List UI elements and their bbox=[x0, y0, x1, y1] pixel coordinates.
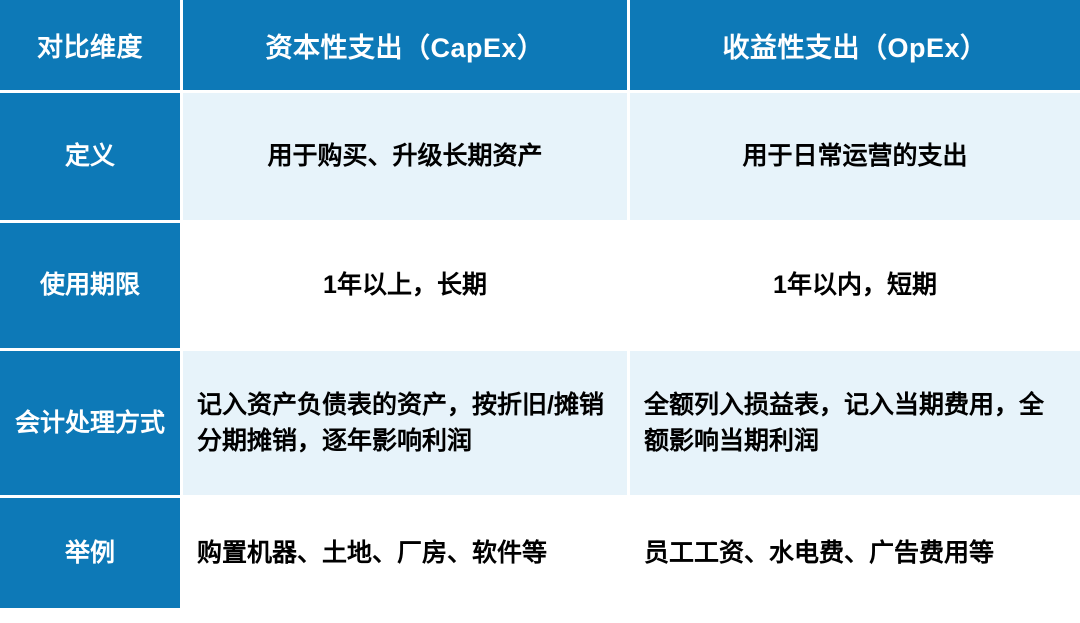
table-body: 定义 用于购买、升级长期资产 用于日常运营的支出 使用期限 1年以上，长期 1年… bbox=[0, 90, 1080, 608]
row-label-accounting-treatment: 会计处理方式 bbox=[0, 348, 183, 495]
cell-accounting-treatment-capex: 记入资产负债表的资产，按折旧/摊销分期摊销，逐年影响利润 bbox=[183, 348, 630, 495]
row-label-definition: 定义 bbox=[0, 90, 183, 220]
table-row: 定义 用于购买、升级长期资产 用于日常运营的支出 bbox=[0, 90, 1080, 220]
cell-definition-capex: 用于购买、升级长期资产 bbox=[183, 90, 630, 220]
cell-accounting-treatment-opex: 全额列入损益表，记入当期费用，全额影响当期利润 bbox=[630, 348, 1080, 495]
table-row: 使用期限 1年以上，长期 1年以内，短期 bbox=[0, 220, 1080, 348]
comparison-table-container: 对比维度 资本性支出（CapEx） 收益性支出（OpEx） 定义 用于购买、升级… bbox=[0, 0, 1080, 623]
cell-examples-opex: 员工工资、水电费、广告费用等 bbox=[630, 495, 1080, 608]
capex-opex-comparison-table: 对比维度 资本性支出（CapEx） 收益性支出（OpEx） 定义 用于购买、升级… bbox=[0, 0, 1080, 608]
table-header-row: 对比维度 资本性支出（CapEx） 收益性支出（OpEx） bbox=[0, 0, 1080, 90]
table-row: 会计处理方式 记入资产负债表的资产，按折旧/摊销分期摊销，逐年影响利润 全额列入… bbox=[0, 348, 1080, 495]
cell-useful-life-opex: 1年以内，短期 bbox=[630, 220, 1080, 348]
column-header-dimension: 对比维度 bbox=[0, 0, 183, 90]
table-row: 举例 购置机器、土地、厂房、软件等 员工工资、水电费、广告费用等 bbox=[0, 495, 1080, 608]
column-header-capex: 资本性支出（CapEx） bbox=[183, 0, 630, 90]
row-label-useful-life: 使用期限 bbox=[0, 220, 183, 348]
column-header-opex: 收益性支出（OpEx） bbox=[630, 0, 1080, 90]
row-label-examples: 举例 bbox=[0, 495, 183, 608]
cell-useful-life-capex: 1年以上，长期 bbox=[183, 220, 630, 348]
cell-examples-capex: 购置机器、土地、厂房、软件等 bbox=[183, 495, 630, 608]
cell-definition-opex: 用于日常运营的支出 bbox=[630, 90, 1080, 220]
table-header: 对比维度 资本性支出（CapEx） 收益性支出（OpEx） bbox=[0, 0, 1080, 90]
